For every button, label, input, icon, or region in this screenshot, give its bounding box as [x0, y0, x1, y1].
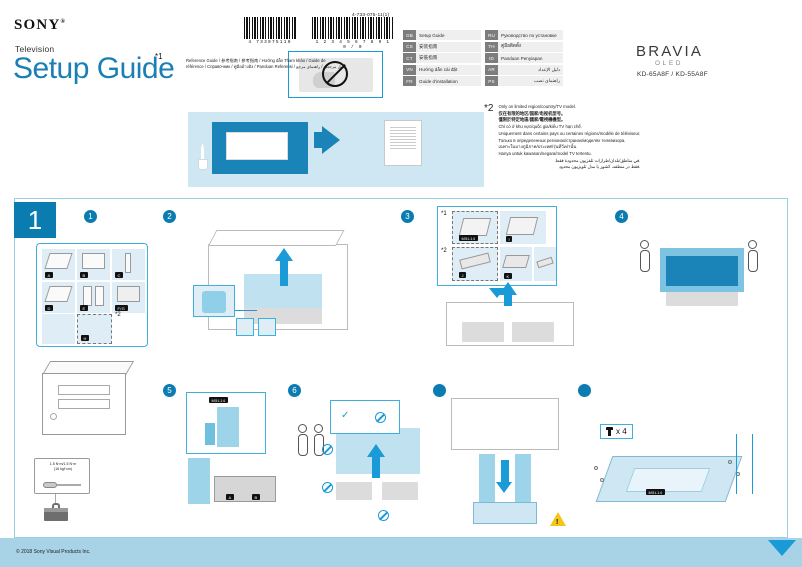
person-head — [640, 240, 649, 249]
screw-quantity-label: x 4 — [616, 427, 627, 436]
step3-parts-detail-panel: *1 *2 M5L14 I J K — [437, 206, 557, 286]
screwdriver-icon — [43, 481, 83, 489]
prohibition-icon — [375, 412, 386, 423]
step8-illustration — [586, 430, 766, 525]
part-label: D — [45, 305, 53, 311]
language-title: Guide d'installation — [416, 76, 481, 86]
leader-line — [235, 310, 257, 311]
copyright-text: © 2018 Sony Visual Products Inc. — [16, 549, 90, 555]
barcode-right-digits: 1 2 3 4 5 6 7 8 9 1 0 / 0 — [312, 40, 394, 50]
detail-part-label: J — [459, 272, 466, 278]
hand-grip-graphic — [202, 291, 226, 313]
screw-pack-shape — [78, 315, 104, 328]
part-number: 4-733-075-11(1) — [352, 13, 389, 18]
footnote-line: Chỉ có ở khu vực/quốc gia/kiểu TV hạn ch… — [498, 124, 640, 130]
language-row: ID Panduan Penyiapan — [485, 53, 563, 63]
arrow-right-icon — [322, 126, 340, 154]
torque-callout: 1.5 N·m/1.5 N·m (16 kgf·cm) — [34, 458, 90, 494]
person-body — [640, 250, 650, 272]
bracket-shape — [506, 217, 538, 235]
part-shape — [82, 253, 105, 269]
page-corner-marker — [768, 540, 796, 556]
stand-leg-upright — [188, 458, 210, 504]
parts-footnote-marker: *2 — [115, 312, 121, 318]
plant-pot — [198, 159, 208, 170]
footnote-2-lines: Only on limited region/country/TV model.… — [498, 104, 640, 171]
footnote-line: Uniquement dans certains pays ou certain… — [498, 131, 640, 137]
stand-block-right — [512, 322, 554, 342]
footnote-line: في مناطق/بلدان/طرازات تلفزيون محدودة فقط… — [498, 158, 640, 164]
screwdriver-handle — [43, 482, 57, 488]
toolbox-icon — [44, 503, 68, 521]
language-row: FR Guide d'installation — [403, 76, 481, 86]
booklet-text-lines — [390, 127, 416, 151]
prohibition-icon-2 — [322, 444, 333, 455]
language-code: ID — [485, 53, 498, 63]
torque-value: 1.5 N·m/1.5 N·m (16 kgf·cm) — [39, 462, 87, 472]
part-label: H — [81, 335, 89, 341]
detail-part-label: M5L14 — [459, 235, 478, 241]
prohibition-icon-4 — [378, 510, 389, 521]
language-title: دليل الإعداد — [498, 65, 563, 75]
language-title: 安装指南 — [416, 42, 481, 52]
step4-illustration — [640, 228, 770, 338]
part-cell: E — [77, 282, 110, 313]
language-code: FR — [403, 76, 416, 86]
language-code: PS — [485, 76, 498, 86]
detail-star-1: *1 — [441, 211, 447, 217]
person-head — [314, 424, 323, 433]
footer-band — [0, 538, 802, 567]
detail-star-2: *2 — [441, 248, 447, 254]
arrow-stem — [280, 260, 288, 286]
grip-detail-small-2 — [258, 318, 276, 336]
language-row: RU Руководство по установке — [485, 30, 563, 40]
step-circle-5: 5 — [163, 384, 176, 397]
part-shape — [44, 286, 72, 302]
arrow-up-icon — [367, 444, 385, 457]
part-label-a: A — [226, 494, 234, 500]
footnote-2: *2 Only on limited region/country/TV mod… — [484, 104, 640, 171]
barcode-bars — [312, 17, 394, 39]
grip-detail-small-1 — [236, 318, 254, 336]
footnote-2-marker: *2 — [484, 104, 493, 171]
step7-illustration — [445, 398, 565, 533]
language-row: PS راهنمای نصب — [485, 76, 563, 86]
detail-cell: I — [500, 211, 546, 244]
language-row: TH คู่มือติดตั้ง — [485, 42, 563, 52]
carton-illustration — [36, 355, 140, 445]
arrow-up-icon — [275, 248, 293, 261]
language-title: راهنمای نصب — [498, 76, 563, 86]
language-row: AR دليل الإعداد — [485, 65, 563, 75]
step-circle-7 — [433, 384, 446, 397]
tv-screen — [226, 132, 288, 160]
barcode-left: 4 733075110 — [244, 17, 296, 45]
part-cell-remote — [42, 314, 75, 344]
footnote-line: Hanya untuk kawasan/negara/model TV tert… — [498, 151, 640, 157]
parts-grid: A B C D E F/G — [42, 249, 145, 313]
barcode-right: 1 2 3 4 5 6 7 8 9 1 0 / 0 — [312, 17, 394, 50]
reference-caption: Reference Guide / 参考指南 / 參考指南 / Hướng dẫ… — [186, 58, 486, 71]
arrow-up-icon — [499, 282, 517, 295]
step-circle-4: 4 — [615, 210, 628, 223]
carton-slot — [58, 385, 110, 395]
tv-base-plate — [214, 476, 276, 502]
warning-exclamation: ! — [556, 519, 558, 526]
screw-point-3 — [728, 460, 732, 464]
grip-detail-callout — [193, 285, 235, 317]
check-icon: ✓ — [341, 410, 349, 421]
part-label: A — [45, 272, 53, 278]
parts-inventory-box: A B C D E F/G — [36, 243, 148, 347]
stand-mount-area — [626, 468, 711, 492]
step-circle-3: 3 — [401, 210, 414, 223]
stand-block-left — [336, 482, 372, 500]
reference-caption-line-2: référence / Справочник / คู่มืออ้างอิง /… — [186, 64, 486, 70]
barcode-left-digits: 4 733075110 — [244, 40, 296, 45]
detail-cell: J — [452, 247, 498, 281]
stand-leg-right — [515, 454, 531, 502]
screwdriver-graphic — [205, 423, 215, 445]
oled-label: OLED — [655, 60, 683, 67]
language-code: GB — [403, 30, 416, 40]
language-title: คู่มือติดตั้ง — [498, 42, 563, 52]
footnote-line: فقط در منطقه، کشور یا مدل تلویزیون محدود… — [498, 164, 640, 170]
tv-illustration — [212, 122, 308, 174]
detail-part-label: K — [504, 273, 512, 279]
screw-pack-shape — [459, 218, 491, 236]
detail-cell: M5L14 — [452, 211, 498, 244]
language-title: Setup Guide — [416, 30, 481, 40]
person-body — [298, 434, 308, 456]
person-head — [298, 424, 307, 433]
model-numbers: KD-65A8F / KD-55A8F — [637, 71, 708, 78]
step5-detail-callout: M5L14 — [186, 392, 266, 454]
torque-line-1: 1.5 N·m/1.5 N·m — [50, 462, 77, 466]
language-code: RU — [485, 30, 498, 40]
part-label: E — [80, 305, 88, 311]
reference-star-marker: *1 — [155, 52, 163, 61]
part-label: F/G — [115, 305, 128, 311]
part-cell: C — [112, 249, 145, 280]
bravia-wordmark: BRAVIA — [636, 43, 703, 60]
part-cell: D — [42, 282, 75, 313]
part-shape — [95, 286, 104, 306]
footnote-line: 僅限於特定地區/國家/電視機機型。 — [498, 117, 640, 123]
cable-shape — [459, 253, 491, 270]
part-label-b: B — [252, 494, 260, 500]
tv-screen — [666, 256, 738, 286]
footnote-line: 仅在有限的地区/国家/电视机型号。 — [498, 111, 640, 117]
step-circle-8 — [578, 384, 591, 397]
step3-illustration — [446, 296, 576, 352]
barcode-bars — [244, 17, 296, 39]
guide-line-1 — [736, 434, 737, 494]
setup-guide-poster: SONY® Television Setup Guide 4 733075110… — [0, 0, 802, 567]
tie-shape — [536, 257, 553, 269]
page-title: Setup Guide — [13, 52, 174, 86]
language-row: GB Setup Guide — [403, 30, 481, 40]
part-cell: F/G — [112, 282, 145, 313]
screw-quantity-badge: x 4 — [600, 424, 633, 439]
reference-guide-banner — [188, 112, 484, 187]
part-cell: A — [42, 249, 75, 280]
footnote-line: Only on limited region/country/TV model. — [498, 104, 640, 110]
packing-base — [666, 292, 738, 306]
cover-shape — [502, 255, 530, 268]
language-code: AR — [485, 65, 498, 75]
language-title: Panduan Penyiapan — [498, 53, 563, 63]
screw-icon — [606, 427, 613, 436]
torque-line-2: (16 kgf·cm) — [54, 467, 72, 471]
part-shape — [44, 253, 72, 269]
language-code: TH — [485, 42, 498, 52]
plant-leaf — [201, 144, 204, 160]
step6-dos-donts-callout: ✓ — [330, 400, 400, 434]
stand-block-right — [382, 482, 418, 500]
arrow-stem — [501, 460, 509, 484]
screw-point-1 — [594, 466, 598, 470]
footnote-line: เฉพาะในบางภูมิภาค/ประเทศ/รุ่นทีวีเท่านั้… — [498, 144, 640, 150]
sony-wordmark: SONY — [14, 17, 60, 33]
guide-line-2 — [752, 434, 753, 494]
screw-model-label: M5L14 — [646, 489, 665, 495]
language-column-right: RU Руководство по установке TH คู่มือติด… — [485, 30, 563, 86]
part-shape — [125, 253, 131, 273]
carton-slot — [58, 399, 110, 409]
detail-cell: K — [500, 247, 532, 281]
part-shape — [117, 286, 140, 302]
remote-control-shape — [42, 314, 67, 328]
part-shape — [83, 286, 92, 306]
screw-spec-label: M5L14 — [209, 397, 228, 403]
step-circle-1: 1 — [84, 210, 97, 223]
arrow-down-icon — [496, 482, 512, 493]
person-head — [748, 240, 757, 249]
detail-cell — [534, 247, 556, 281]
part-label: B — [80, 272, 88, 278]
part-cell: B — [77, 249, 110, 280]
language-title: Руководство по установке — [498, 30, 563, 40]
carton-handle-hole — [50, 413, 57, 420]
part-cell-optional: H — [77, 314, 112, 344]
screwdriver-shaft — [57, 484, 81, 486]
detail-part-label: I — [506, 236, 512, 242]
reference-guide-booklet — [384, 120, 422, 166]
plant-decoration — [196, 140, 210, 170]
step-circle-2: 2 — [163, 210, 176, 223]
part-label: C — [115, 272, 123, 278]
tv-rear-outline — [451, 398, 559, 450]
prohibition-icon-3 — [322, 482, 333, 493]
toolbox-lid — [44, 508, 68, 512]
carton-flap — [208, 230, 345, 246]
stand-leg-left — [479, 454, 495, 502]
language-row: CS 安装指南 — [403, 42, 481, 52]
stand-block-left — [462, 322, 504, 342]
sony-logo: SONY® — [14, 17, 66, 34]
language-code: CS — [403, 42, 416, 52]
stand-base-plate — [473, 502, 537, 524]
footnote-line: Только в определенных регионах/странах/м… — [498, 138, 640, 144]
screw-point-2 — [600, 478, 604, 482]
person-body — [748, 250, 758, 272]
arrow-stem — [372, 456, 380, 478]
stand-leg-graphic — [217, 407, 239, 447]
step-number-badge: 1 — [14, 202, 56, 238]
step-circle-6: 6 — [288, 384, 301, 397]
